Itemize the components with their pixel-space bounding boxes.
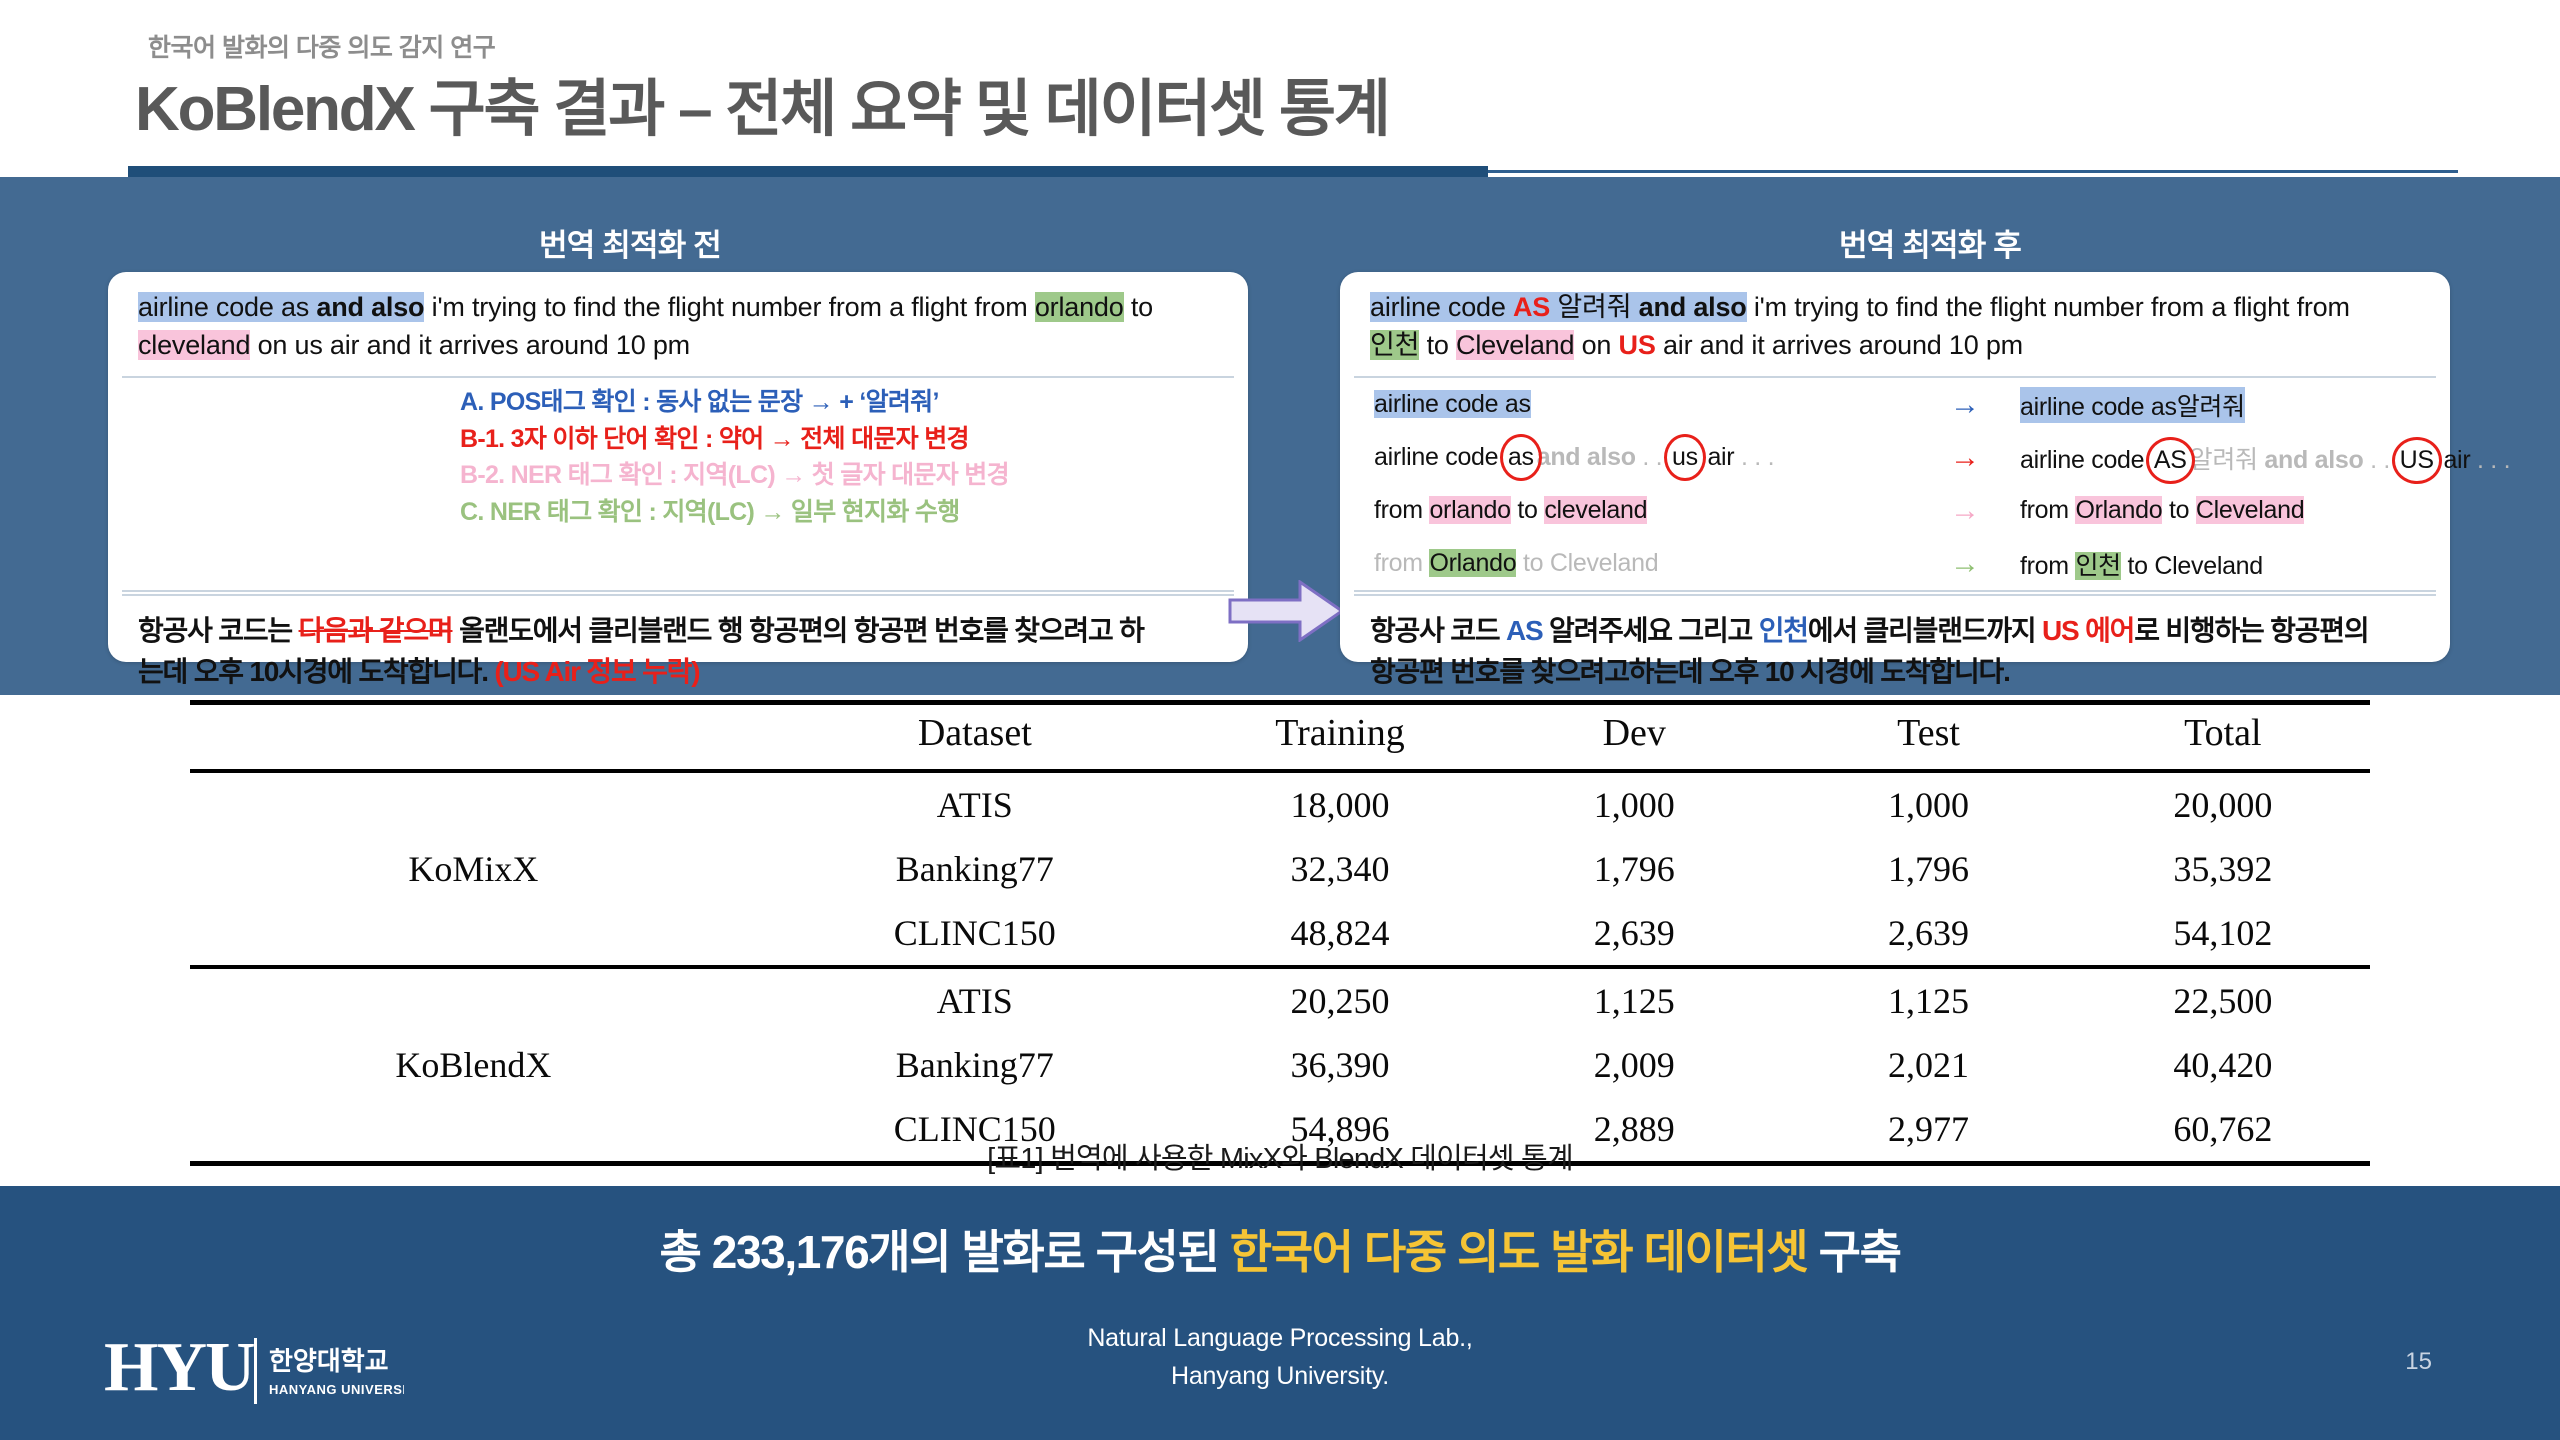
after-src-c: i'm trying to find the flight number fro… [1747, 292, 2350, 322]
cell-training: 32,340 [1193, 837, 1487, 901]
footer-headline-highlight: 한국어 다중 의도 발화 데이터셋 [1230, 1226, 1807, 1278]
row1-rhs-b: 알려줘 [2177, 393, 2245, 421]
band-title-after: 번역 최적화 후 [1630, 220, 2230, 265]
cell-dataset: Banking77 [757, 1033, 1193, 1097]
after-kr-us: US 에어 [2042, 615, 2134, 646]
footer-headline: 총 233,176개의 발화로 구성된 한국어 다중 의도 발화 데이터셋 구축 [0, 1216, 2560, 1282]
row2-lhs-b: air [1701, 443, 1741, 471]
row3-rhs-pink1: Orlando [2075, 496, 2162, 524]
transform-row: from Orlando to Cleveland → from 인천 to C… [1340, 537, 2450, 590]
before-kr-red: (US Air 정보 누락) [494, 656, 699, 687]
page-number: 15 [2405, 1348, 2432, 1376]
rule-item-b1: B-1. 3자 이하 단어 확인 : 약어 → 전체 대문자 변경 [108, 421, 1248, 458]
after-src-a: airline code [1370, 292, 1513, 322]
row3-arrow-icon: → [1950, 494, 1980, 528]
after-src-e: on [1574, 330, 1618, 360]
row2-lhs-a: airline code [1374, 443, 1505, 471]
lab-line-2: Hanyang University. [1171, 1362, 1389, 1390]
row4-lhs-b: to Cleveland [1516, 549, 1658, 577]
cell-dev: 2,009 [1487, 1033, 1781, 1097]
row2-rhs-dots2: . . . [2477, 446, 2510, 474]
row3-rhs-b: to [2162, 496, 2196, 524]
row3-lhs-a: from [1374, 496, 1429, 524]
before-src-bold: and also [316, 292, 424, 322]
before-kr-a: 항공사 코드는 [138, 615, 299, 646]
cell-total: 40,420 [2076, 1033, 2370, 1097]
row3-lhs-pink1: orlando [1429, 496, 1510, 524]
before-rules-list: A. POS태그 확인 : 동사 없는 문장 → + ‘알려줘’ B-1. 3자… [108, 378, 1248, 590]
before-kr-strike: 다음과 같으며 [299, 615, 453, 646]
before-src-green: orlando [1035, 292, 1124, 322]
before-src-c: to [1124, 292, 1153, 322]
cell-total: 20,000 [2076, 771, 2370, 837]
band-title-before: 번역 최적화 전 [330, 220, 930, 265]
after-example-card: airline code AS 알려줘 and also i'm trying … [1340, 272, 2450, 662]
transform-row: airline code as → airline code as알려줘 [1340, 378, 2450, 431]
row1-arrow-icon: → [1950, 388, 1980, 422]
table-caption: [표1] 번역에 사용한 MixX와 BlendX 데이터셋 통계 [0, 1135, 2560, 1177]
after-src-pink: Cleveland [1456, 330, 1574, 360]
row3-lhs-b: to [1511, 496, 1545, 524]
table-row: KoBlendX Banking77 36,390 2,009 2,021 40… [190, 1033, 2370, 1097]
group-label [190, 901, 757, 967]
slide-header: 한국어 발화의 다중 의도 감지 연구 KoBlendX 구축 결과 – 전체 … [0, 0, 2560, 172]
before-kr-c: 는데 오후 10시경에 도착합니다. [138, 656, 494, 687]
before-example-card: airline code as and also i'm trying to f… [108, 272, 1248, 662]
cell-test: 2,021 [1781, 1033, 2075, 1097]
after-kr-as: AS [1506, 615, 1543, 646]
row2-rhs-circle2: US [2397, 446, 2437, 475]
group-label-koblendx: KoBlendX [190, 1033, 757, 1097]
row2-rhs-greyb: and also [2258, 446, 2364, 474]
before-src-pink: cleveland [138, 330, 250, 360]
row4-lhs-green: Orlando [1429, 549, 1516, 577]
th-total: Total [2076, 703, 2370, 772]
cell-dataset: CLINC150 [757, 901, 1193, 967]
after-kr-b: 알려주세요 그리고 [1542, 615, 1758, 646]
row2-rhs-b: air [2437, 446, 2477, 474]
cell-dataset: ATIS [757, 967, 1193, 1033]
th-dev: Dev [1487, 703, 1781, 772]
after-transform-rows: airline code as → airline code as알려줘 air… [1340, 378, 2450, 590]
row2-arrow-icon: → [1950, 441, 1980, 475]
slide: 한국어 발화의 다중 의도 감지 연구 KoBlendX 구축 결과 – 전체 … [0, 0, 2560, 1440]
before-src-rest: on us air and it arrives around 10 pm [250, 330, 690, 360]
row4-rhs-b: to Cleveland [2121, 552, 2263, 580]
cell-total: 22,500 [2076, 967, 2370, 1033]
table-row: ATIS 20,250 1,125 1,125 22,500 [190, 967, 2370, 1033]
th-group [190, 703, 757, 772]
card-divider-bottom-1 [122, 590, 1234, 592]
cell-dev: 1,125 [1487, 967, 1781, 1033]
cell-dataset: ATIS [757, 771, 1193, 837]
row2-rhs-a: airline code [2020, 446, 2151, 474]
after-src-b: 알려줘 [1550, 292, 1639, 322]
row3-rhs-a: from [2020, 496, 2075, 524]
rule-item-a: A. POS태그 확인 : 동사 없는 문장 → + ‘알려줘’ [108, 384, 1248, 421]
after-kr-c: 에서 클리블랜드까지 [1808, 615, 2042, 646]
after-kr-l2: 항공편 번호를 찾으려고하는데 오후 10 시경에 도착합니다. [1370, 656, 2010, 687]
after-kr-d: 로 비행하는 항공편의 [2134, 615, 2368, 646]
after-korean-translation: 항공사 코드 AS 알려주세요 그리고 인천에서 클리블랜드까지 US 에어로 … [1340, 598, 2450, 662]
before-src-b: i'm trying to find the flight number fro… [424, 292, 1035, 322]
page-title: KoBlendX 구축 결과 – 전체 요약 및 데이터셋 통계 [135, 58, 1389, 148]
row3-rhs-pink2: Cleveland [2196, 496, 2304, 524]
row4-rhs-a: from [2020, 552, 2075, 580]
lab-line-1: Natural Language Processing Lab., [1087, 1324, 1472, 1352]
cell-total: 35,392 [2076, 837, 2370, 901]
table-row: CLINC150 48,824 2,639 2,639 54,102 [190, 901, 2370, 967]
row2-lhs-grey: and also [1537, 443, 1636, 471]
cell-training: 20,250 [1193, 967, 1487, 1033]
row2-lhs-circle: as [1505, 443, 1537, 472]
after-src-us: US [1619, 330, 1656, 360]
th-dataset: Dataset [757, 703, 1193, 772]
after-source-sentence: airline code AS 알려줘 and also i'm trying … [1340, 272, 2450, 376]
after-src-green: 인천 [1370, 330, 1419, 360]
cell-dev: 1,796 [1487, 837, 1781, 901]
table-header-row: Dataset Training Dev Test Total [190, 703, 2370, 772]
table-row: ATIS 18,000 1,000 1,000 20,000 [190, 771, 2370, 837]
cell-training: 18,000 [1193, 771, 1487, 837]
row2-lhs-circle2: us [1669, 443, 1701, 472]
row4-rhs-green: 인천 [2075, 552, 2120, 580]
after-src-bold: and also [1639, 292, 1747, 322]
th-test: Test [1781, 703, 2075, 772]
cell-test: 1,796 [1781, 837, 2075, 901]
before-src-a: airline code as [138, 292, 316, 322]
row2-rhs-grey: 알려줘 [2190, 446, 2258, 474]
cell-test: 2,639 [1781, 901, 2075, 967]
cell-test: 1,125 [1781, 967, 2075, 1033]
dataset-statistics-table: Dataset Training Dev Test Total ATIS 18,… [190, 700, 2370, 1166]
transform-row: airline code asand also . . us air . . .… [1340, 431, 2450, 484]
lab-credit: Natural Language Processing Lab., Hanyan… [0, 1320, 2560, 1395]
card-divider-bottom-2 [122, 594, 1234, 596]
row2-rhs-circle: AS [2151, 446, 2190, 475]
footer-headline-b: 구축 [1807, 1226, 1900, 1278]
row4-lhs-a: from [1374, 549, 1429, 577]
before-korean-translation: 항공사 코드는 다음과 같으며 올랜도에서 클리블랜드 행 항공편의 항공편 번… [108, 598, 1248, 662]
rule-item-c: C. NER 태그 확인 : 지역(LC) → 일부 현지화 수행 [108, 494, 1248, 531]
after-kr-incheon: 인천 [1759, 615, 1808, 646]
after-card-divider-bottom-2 [1354, 594, 2436, 596]
transform-row: from orlando to cleveland → from Orlando… [1340, 484, 2450, 537]
row4-arrow-icon: → [1950, 547, 1980, 581]
cell-total: 54,102 [2076, 901, 2370, 967]
footer-headline-a: 총 233,176개의 발화로 구성된 [660, 1226, 1230, 1278]
th-training: Training [1193, 703, 1487, 772]
rule-item-b2: B-2. NER 태그 확인 : 지역(LC) → 첫 글자 대문자 변경 [108, 457, 1248, 494]
cell-training: 48,824 [1193, 901, 1487, 967]
row1-lhs: airline code as [1374, 390, 1531, 418]
cell-dataset: Banking77 [757, 837, 1193, 901]
cell-dev: 1,000 [1487, 771, 1781, 837]
group-label [190, 771, 757, 837]
cell-test: 1,000 [1781, 771, 2075, 837]
row2-lhs-dots2: . . . [1741, 443, 1774, 471]
after-src-f: air and it arrives around 10 pm [1656, 330, 2023, 360]
before-kr-b: 올랜도에서 클리블랜드 행 항공편의 항공편 번호를 찾으려고 하 [452, 615, 1143, 646]
group-label [190, 967, 757, 1033]
table-row: KoMixX Banking77 32,340 1,796 1,796 35,3… [190, 837, 2370, 901]
group-label-komixx: KoMixX [190, 837, 757, 901]
after-src-as: AS [1513, 292, 1550, 322]
after-kr-a: 항공사 코드 [1370, 615, 1506, 646]
title-rule-dark [128, 166, 1488, 177]
cell-training: 36,390 [1193, 1033, 1487, 1097]
row3-lhs-pink2: cleveland [1544, 496, 1647, 524]
transform-arrow-icon [1228, 580, 1346, 642]
before-source-sentence: airline code as and also i'm trying to f… [108, 272, 1248, 376]
after-card-divider-bottom-1 [1354, 590, 2436, 592]
row1-rhs-a: airline code as [2020, 393, 2177, 421]
after-src-d: to [1419, 330, 1456, 360]
cell-dev: 2,639 [1487, 901, 1781, 967]
